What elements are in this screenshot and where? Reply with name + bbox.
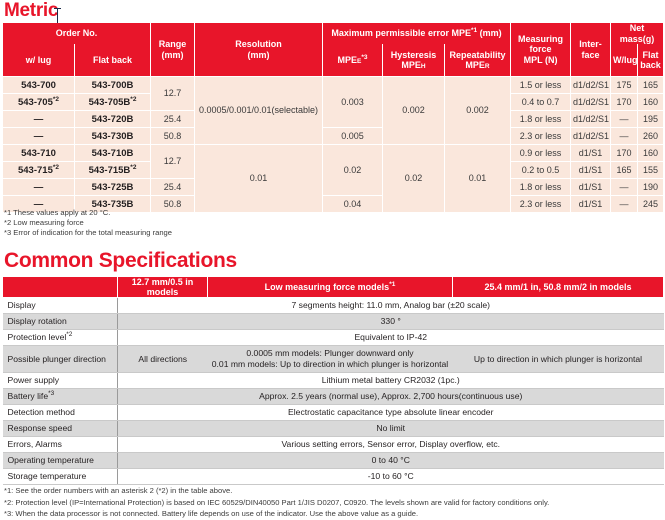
cell-spec-label: Storage temperature [3, 469, 118, 485]
cell-net-mass-flat-back: 190 [638, 179, 664, 196]
cell-order-no-flat-back: 543-715B*2 [75, 162, 151, 179]
table-row: Power supplyLithium metal battery CR2032… [3, 373, 664, 389]
cell-measuring-force: 2.3 or less [511, 196, 571, 213]
cell-measuring-force: 2.3 or less [511, 128, 571, 145]
header-net-mass-w-lug: W/lug [611, 44, 638, 77]
metric-footnotes: *1 These values apply at 20 °C.*2 Low me… [4, 208, 172, 239]
metric-table-body: 543-700543-700B12.70.0005/0.001/0.01(sel… [3, 77, 664, 213]
cell-range: 50.8 [151, 128, 195, 145]
header-net-mass: Net mass(g) [611, 23, 664, 44]
footnote-ref: *2 [53, 163, 59, 170]
cell-interface: d1/S1 [571, 196, 611, 213]
cell-order-no-flat-back: 543-730B [75, 128, 151, 145]
cell-spec-value: 330 ° [118, 314, 664, 330]
cell-spec-value-low-force: 0.0005 mm models: Plunger downward only0… [208, 346, 453, 373]
header-mpe-group-footnote-ref: *1 [471, 27, 477, 34]
cell-spec-value: Electrostatic capacitance type absolute … [118, 405, 664, 421]
cell-interface: d1/S1 [571, 162, 611, 179]
cell-spec-label: Operating temperature [3, 453, 118, 469]
cell-order-no-w-lug: — [3, 128, 75, 145]
header-order-no: Order No. [3, 23, 151, 44]
footnote-ref: *2 [53, 95, 59, 102]
cell-measuring-force: 1.8 or less [511, 111, 571, 128]
header-flat-back: Flat back [75, 44, 151, 77]
header-col-low-measuring-force: Low measuring force models*1 [208, 277, 453, 298]
header-col-12-7mm: 12.7 mm/0.5 in models [118, 277, 208, 298]
cell-order-no-w-lug: — [3, 179, 75, 196]
metric-specifications-table: Order No. Range (mm) Resolution (mm) Max… [2, 23, 664, 213]
cell-order-no-flat-back: 543-725B [75, 179, 151, 196]
cell-repeatability: 0.01 [445, 145, 511, 213]
cell-net-mass-w-lug: — [611, 179, 638, 196]
cell-hysteresis: 0.02 [383, 145, 445, 213]
cell-spec-label: Possible plunger direction [3, 346, 118, 373]
cell-order-no-w-lug: 543-710 [3, 145, 75, 162]
cell-spec-value-25-4mm: Up to direction in which plunger is hori… [453, 346, 664, 373]
cell-repeatability: 0.002 [445, 77, 511, 145]
footnote-line: *3: When the data processor is not conne… [4, 508, 549, 520]
cell-net-mass-w-lug: 165 [611, 162, 638, 179]
cell-measuring-force: 0.9 or less [511, 145, 571, 162]
cell-spec-label: Detection method [3, 405, 118, 421]
cell-order-no-w-lug: 543-715*2 [3, 162, 75, 179]
common-footnotes: *1: See the order numbers with an asteri… [4, 485, 549, 520]
cell-spec-value-12-7mm: All directions [118, 346, 208, 373]
cell-interface: d1/d2/S1 [571, 77, 611, 94]
table-row: Response speedNo limit [3, 421, 664, 437]
footnote-line: *1: See the order numbers with an asteri… [4, 485, 549, 497]
header-range: Range (mm) [151, 23, 195, 77]
cell-range: 25.4 [151, 111, 195, 128]
cell-spec-value: No limit [118, 421, 664, 437]
cell-spec-value: Approx. 2.5 years (normal use), Approx. … [118, 389, 664, 405]
cell-spec-label: Errors, Alarms [3, 437, 118, 453]
table-row: 543-710543-710B12.70.010.020.020.010.9 o… [3, 145, 664, 162]
cell-range: 12.7 [151, 145, 195, 179]
cell-spec-value: 7 segments height: 11.0 mm, Analog bar (… [118, 298, 664, 314]
cell-spec-label: Display rotation [3, 314, 118, 330]
footnote-ref: *3 [48, 390, 54, 397]
table-row: —543-730B50.80.0052.3 or lessd1/d2/S1—26… [3, 128, 664, 145]
cell-spec-value: Lithium metal battery CR2032 (1pc.) [118, 373, 664, 389]
cell-resolution: 0.01 [195, 145, 323, 213]
table-row: Storage temperature-10 to 60 °C [3, 469, 664, 485]
cell-interface: d1/S1 [571, 179, 611, 196]
cell-mpe-e: 0.04 [323, 196, 383, 213]
cell-net-mass-w-lug: 170 [611, 145, 638, 162]
cell-net-mass-flat-back: 260 [638, 128, 664, 145]
cell-net-mass-w-lug: 170 [611, 94, 638, 111]
cell-measuring-force: 0.4 to 0.7 [511, 94, 571, 111]
cell-mpe-e: 0.02 [323, 145, 383, 196]
header-col-25-4mm-50-8mm: 25.4 mm/1 in, 50.8 mm/2 in models [453, 277, 664, 298]
cell-spec-label: Response speed [3, 421, 118, 437]
cell-order-no-flat-back: 543-705B*2 [75, 94, 151, 111]
footnote-line: *2: Protection level (IP=International P… [4, 497, 549, 509]
cell-interface: d1/d2/S1 [571, 111, 611, 128]
header-w-lug: w/ lug [3, 44, 75, 77]
cell-spec-value: Equivalent to IP-42 [118, 330, 664, 346]
page-title-common-specifications: Common Specifications [4, 249, 237, 273]
footnote-ref: *2 [66, 331, 72, 338]
footnote-line: *1 These values apply at 20 °C. [4, 208, 172, 218]
cell-hysteresis: 0.002 [383, 77, 445, 145]
cell-net-mass-flat-back: 160 [638, 94, 664, 111]
metric-header-row-top: Order No. Range (mm) Resolution (mm) Max… [3, 23, 664, 44]
cell-spec-value: 0 to 40 °C [118, 453, 664, 469]
cell-order-no-w-lug: — [3, 111, 75, 128]
cell-order-no-flat-back: 543-710B [75, 145, 151, 162]
cell-spec-label: Display [3, 298, 118, 314]
cell-net-mass-flat-back: 160 [638, 145, 664, 162]
cell-measuring-force: 0.2 to 0.5 [511, 162, 571, 179]
table-row: Display7 segments height: 11.0 mm, Analo… [3, 298, 664, 314]
spec-sheet-page: Metric Order No. Range (mm) Resolution (… [0, 0, 665, 520]
table-row: Errors, AlarmsVarious setting errors, Se… [3, 437, 664, 453]
cell-net-mass-w-lug: — [611, 196, 638, 213]
cell-spec-value: -10 to 60 °C [118, 469, 664, 485]
header-measuring-force: Measuring force MPL (N) [511, 23, 571, 77]
cell-net-mass-w-lug: — [611, 128, 638, 145]
footnote-ref: *2 [130, 95, 136, 102]
cell-spec-label: Power supply [3, 373, 118, 389]
table-row: Protection level*2Equivalent to IP-42 [3, 330, 664, 346]
cell-net-mass-flat-back: 245 [638, 196, 664, 213]
cell-order-no-flat-back: 543-700B [75, 77, 151, 94]
table-row: Possible plunger directionAll directions… [3, 346, 664, 373]
cell-interface: d1/S1 [571, 145, 611, 162]
header-mpe-group: Maximum permissible error MPE*1 (mm) [323, 23, 511, 44]
footnote-line: *2 Low measuring force [4, 218, 172, 228]
header-spec-name [3, 277, 118, 298]
cell-order-no-flat-back: 543-720B [75, 111, 151, 128]
table-row: Detection methodElectrostatic capacitanc… [3, 405, 664, 421]
cell-range: 25.4 [151, 179, 195, 196]
header-interface: Inter- face [571, 23, 611, 77]
cell-net-mass-w-lug: 175 [611, 77, 638, 94]
table-row: Display rotation330 ° [3, 314, 664, 330]
header-resolution: Resolution (mm) [195, 23, 323, 77]
cell-net-mass-flat-back: 155 [638, 162, 664, 179]
common-table-body: Display7 segments height: 11.0 mm, Analo… [3, 298, 664, 485]
common-header-row: 12.7 mm/0.5 in models Low measuring forc… [3, 277, 664, 298]
header-hysteresis: Hysteresis MPEH [383, 44, 445, 77]
cell-interface: d1/d2/S1 [571, 94, 611, 111]
cell-net-mass-w-lug: — [611, 111, 638, 128]
cell-spec-label: Battery life*3 [3, 389, 118, 405]
page-title-metric: Metric [4, 0, 58, 22]
table-row: Battery life*3Approx. 2.5 years (normal … [3, 389, 664, 405]
cell-mpe-e: 0.003 [323, 77, 383, 128]
common-specifications-table: 12.7 mm/0.5 in models Low measuring forc… [2, 277, 664, 485]
header-mpe-e: MPEE*3 [323, 44, 383, 77]
table-row: Operating temperature0 to 40 °C [3, 453, 664, 469]
footnote-ref: *2 [130, 163, 136, 170]
cell-net-mass-flat-back: 165 [638, 77, 664, 94]
cell-measuring-force: 1.5 or less [511, 77, 571, 94]
cell-order-no-w-lug: 543-705*2 [3, 94, 75, 111]
header-net-mass-flat-back: Flat back [638, 44, 664, 77]
cell-spec-label: Protection level*2 [3, 330, 118, 346]
cell-measuring-force: 1.8 or less [511, 179, 571, 196]
cell-spec-value: Various setting errors, Sensor error, Di… [118, 437, 664, 453]
cell-net-mass-flat-back: 195 [638, 111, 664, 128]
table-row: 543-700543-700B12.70.0005/0.001/0.01(sel… [3, 77, 664, 94]
cell-mpe-e: 0.005 [323, 128, 383, 145]
footnote-line: *3 Error of indication for the total mea… [4, 228, 172, 238]
cell-resolution: 0.0005/0.001/0.01(selectable) [195, 77, 323, 145]
cell-range: 12.7 [151, 77, 195, 111]
header-repeatability: Repeatability MPER [445, 44, 511, 77]
cell-interface: d1/d2/S1 [571, 128, 611, 145]
cell-order-no-w-lug: 543-700 [3, 77, 75, 94]
